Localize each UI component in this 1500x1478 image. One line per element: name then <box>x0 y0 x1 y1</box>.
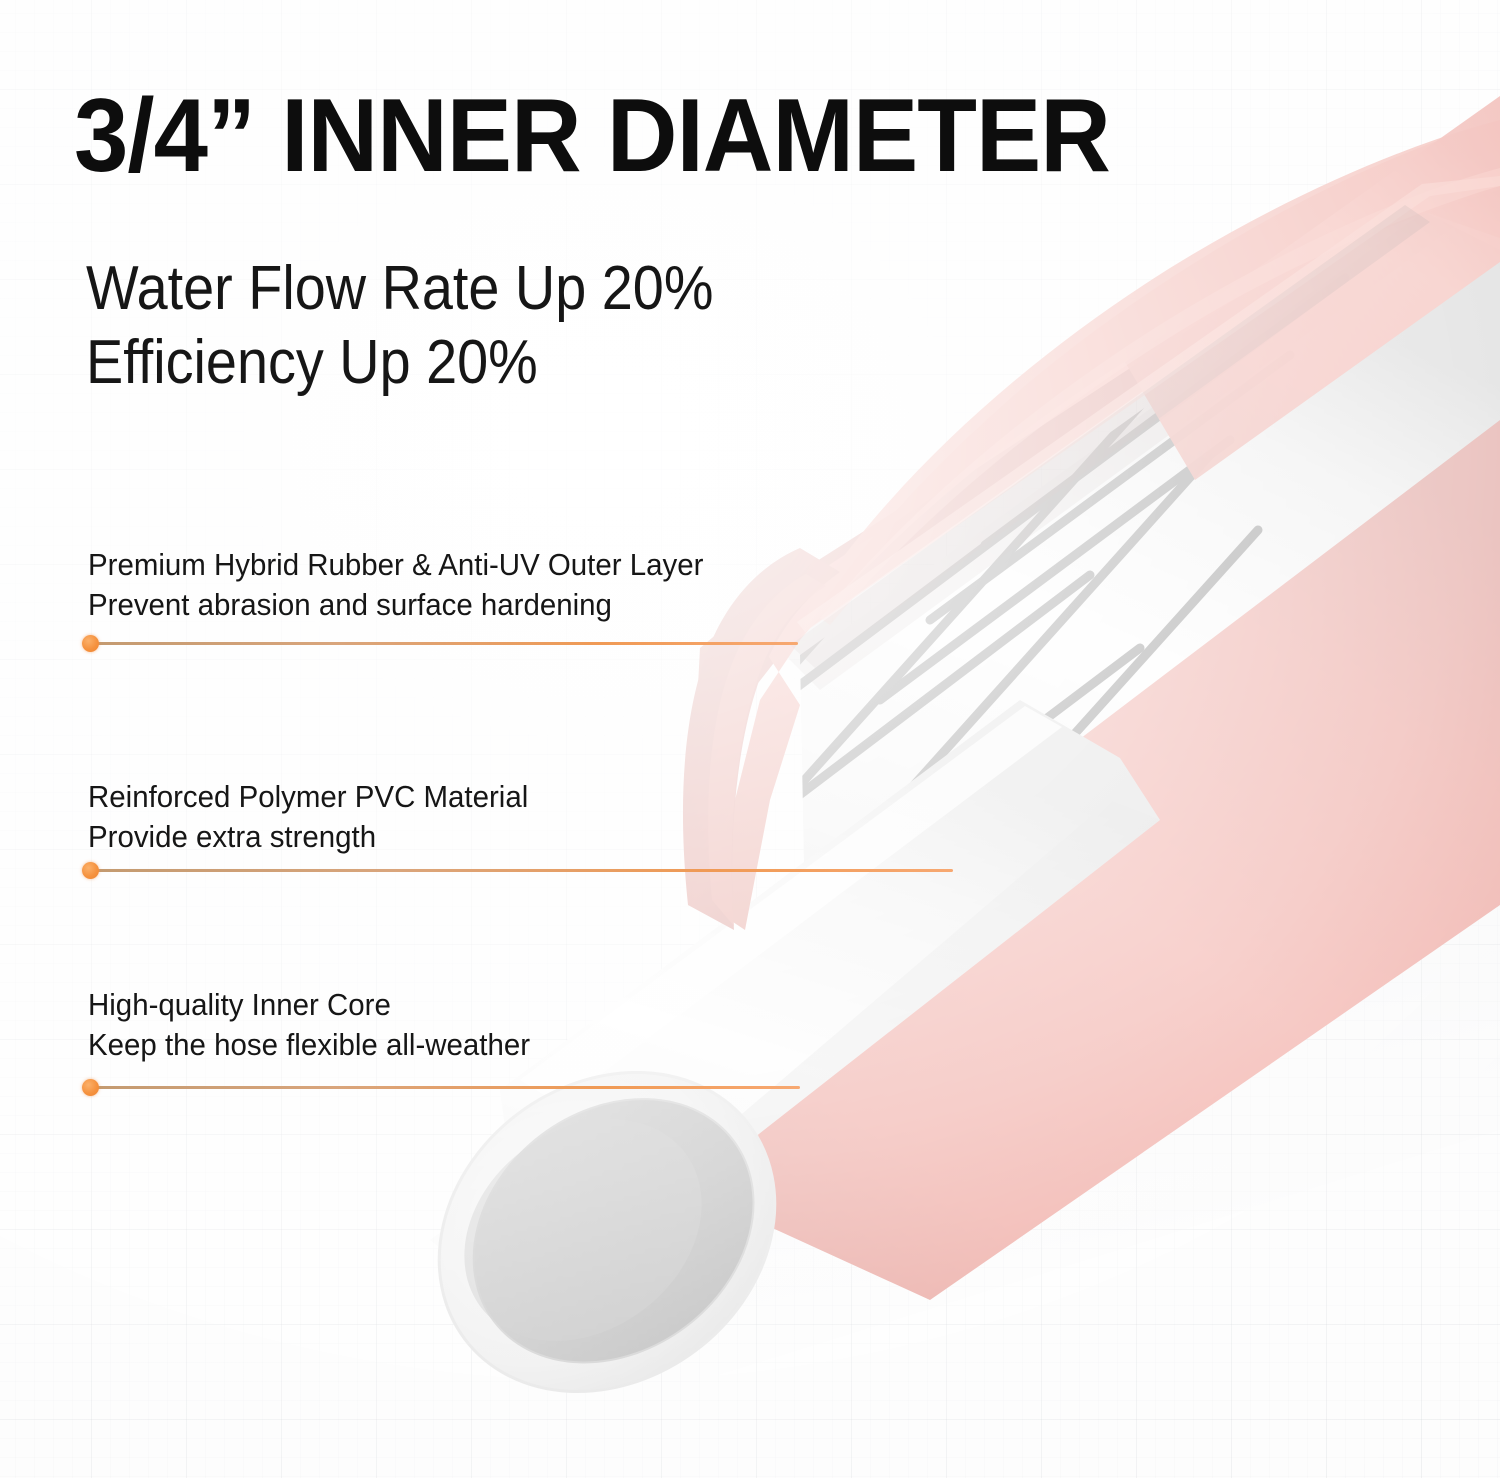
subtitle-line-2: Efficiency Up 20% <box>86 326 713 400</box>
callout-outer-layer: Premium Hybrid Rubber & Anti-UV Outer La… <box>88 545 736 626</box>
callout-2-leader-line <box>88 869 953 872</box>
callout-3-title: High-quality Inner Core <box>88 985 530 1025</box>
callout-1-subtitle: Prevent abrasion and surface hardening <box>88 585 703 625</box>
callout-1-title: Premium Hybrid Rubber & Anti-UV Outer La… <box>88 545 703 585</box>
callout-3-dot <box>82 1079 99 1096</box>
graph-paper-background <box>0 0 1500 1478</box>
callout-1-leader-line <box>88 642 798 645</box>
product-infographic: 3/4” INNER DIAMETER Water Flow Rate Up 2… <box>0 0 1500 1478</box>
callout-2-dot <box>82 862 99 879</box>
page-subtitle: Water Flow Rate Up 20% Efficiency Up 20% <box>86 252 713 400</box>
callout-1-dot <box>82 635 99 652</box>
page-title: 3/4” INNER DIAMETER <box>74 84 1110 188</box>
callout-2-title: Reinforced Polymer PVC Material <box>88 777 528 817</box>
callout-2-subtitle: Provide extra strength <box>88 817 528 857</box>
callout-inner-core: High-quality Inner Core Keep the hose fl… <box>88 985 553 1066</box>
callout-pvc-material: Reinforced Polymer PVC Material Provide … <box>88 777 551 858</box>
callout-3-leader-line <box>88 1086 800 1089</box>
subtitle-line-1: Water Flow Rate Up 20% <box>86 252 713 326</box>
callout-3-subtitle: Keep the hose flexible all-weather <box>88 1025 530 1065</box>
